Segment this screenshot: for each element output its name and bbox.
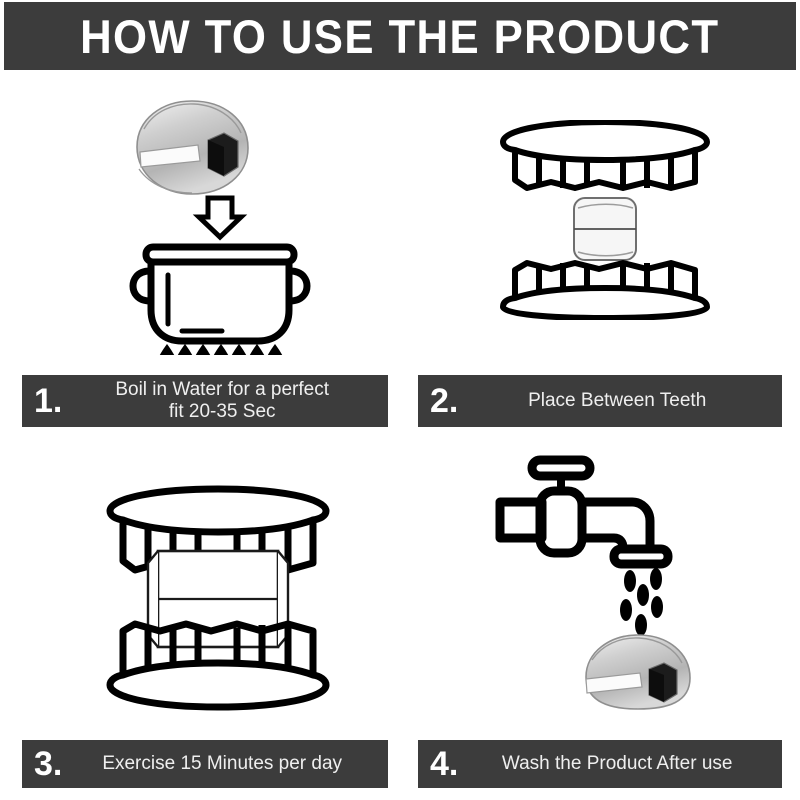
step-number-2: 2.	[418, 384, 462, 418]
header-bar: HOW TO USE THE PRODUCT	[4, 2, 796, 70]
jaw-exerciser-icon	[137, 101, 248, 194]
cooking-pot-icon	[133, 247, 307, 341]
water-droplet-group	[620, 568, 663, 636]
illustration-step-2	[495, 120, 715, 320]
step-bar-2: 2. Place Between Teeth	[418, 375, 782, 427]
step-bar-1: 1. Boil in Water for a perfect fit 20-35…	[22, 375, 388, 427]
page-title: HOW TO USE THE PRODUCT	[80, 9, 719, 64]
step-number-1: 1.	[22, 384, 66, 418]
lower-teeth-icon	[503, 263, 707, 318]
water-droplet-icon	[620, 599, 632, 621]
illustration-step-4	[490, 455, 720, 710]
water-droplet-icon	[624, 570, 636, 592]
step-label-1: Boil in Water for a perfect fit 20-35 Se…	[66, 379, 388, 423]
jaw-exerciser-icon	[586, 635, 690, 709]
water-droplet-icon	[651, 596, 663, 618]
step-number-3: 3.	[22, 747, 66, 781]
upper-teeth-icon	[503, 122, 707, 188]
flame-icon-row	[157, 344, 285, 355]
illustration-step-1	[120, 95, 320, 355]
water-droplet-icon	[650, 568, 662, 590]
step-number-4: 4.	[418, 747, 462, 781]
water-droplet-icon	[635, 614, 647, 636]
step-label-2: Place Between Teeth	[462, 390, 782, 412]
water-droplet-icon	[637, 584, 649, 606]
step-label-4: Wash the Product After use	[462, 753, 782, 775]
faucet-icon	[500, 460, 668, 564]
illustration-step-3	[100, 485, 335, 715]
down-arrow-icon	[199, 198, 241, 237]
device-block-icon	[574, 198, 636, 260]
step-bar-3: 3. Exercise 15 Minutes per day	[22, 740, 388, 788]
step-bar-4: 4. Wash the Product After use	[418, 740, 782, 788]
step-label-3: Exercise 15 Minutes per day	[66, 753, 388, 775]
